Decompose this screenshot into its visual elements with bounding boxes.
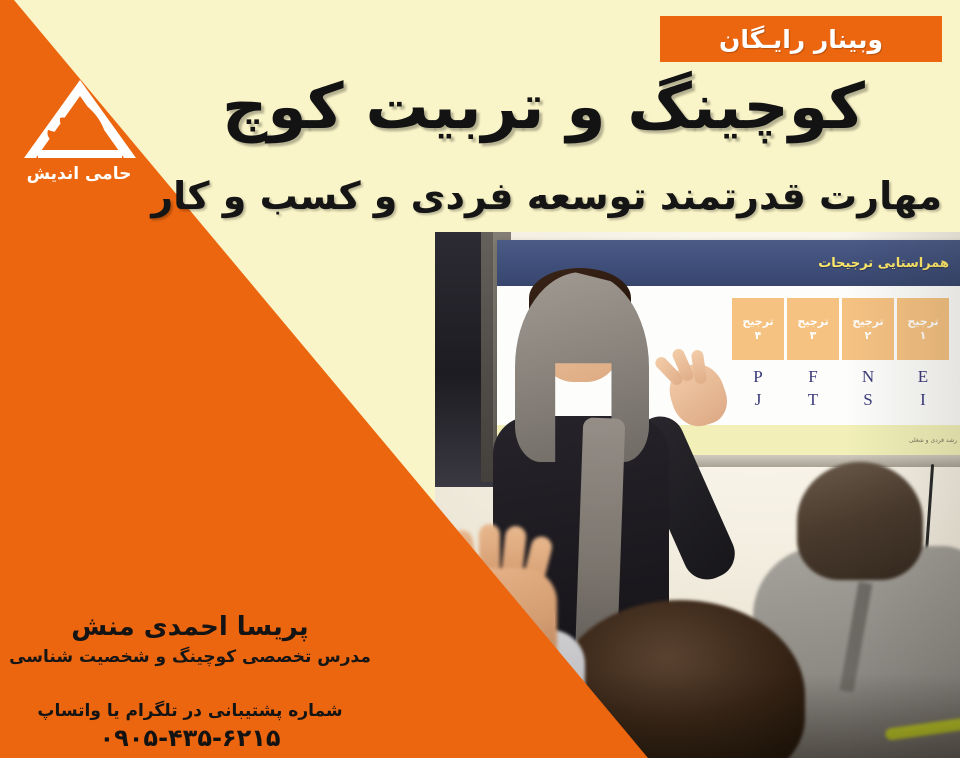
contact-phone-number[interactable]: ۰۹۰۵-۴۳۵-۶۲۱۵ <box>0 724 380 752</box>
free-webinar-badge: وبینار رایـگان <box>660 16 942 62</box>
page-subtitle: مهارت قدرتمند توسعه فردی و کسب و کار <box>182 176 942 218</box>
letter-pair: FT <box>787 366 839 412</box>
slide-footer-note: رشد فردی و شغلی <box>909 437 957 444</box>
page-title: کوچینگ و تربیت کوچ <box>222 74 942 140</box>
table-header-cell: ترجیح۳ <box>787 298 839 360</box>
presenter-name: پریسا احمدی منش <box>0 612 380 643</box>
slide-letters-row: EI NS FT PJ <box>732 366 949 412</box>
brand-logo[interactable]: حامی اندیش <box>14 78 154 198</box>
webinar-poster: همراستایی ترجیحات ترجیح۱ ترجیح۲ ترجیح۳ ت… <box>0 0 960 758</box>
hami-andish-logo-icon <box>20 78 140 162</box>
table-header-cell: ترجیح۲ <box>842 298 894 360</box>
letter-pair: PJ <box>732 366 784 412</box>
presenter-role: مدرس تخصصی کوچینگ و شخصیت شناسی <box>0 647 380 668</box>
brand-logo-text: حامی اندیش <box>14 164 144 184</box>
table-header-cell: ترجیح۴ <box>732 298 784 360</box>
contact-block[interactable]: شماره پشتیبانی در تلگرام یا واتساپ ۰۹۰۵-… <box>0 700 380 752</box>
letter-pair: NS <box>842 366 894 412</box>
contact-label: شماره پشتیبانی در تلگرام یا واتساپ <box>0 700 380 722</box>
slide-title: همراستایی ترجیحات <box>818 256 949 271</box>
audience-man-head <box>797 462 923 580</box>
slide-preference-table: ترجیح۱ ترجیح۲ ترجیح۳ ترجیح۴ <box>732 298 949 360</box>
letter-pair: EI <box>897 366 949 412</box>
presenter-credits: پریسا احمدی منش مدرس تخصصی کوچینگ و شخصی… <box>0 612 380 668</box>
free-webinar-badge-label: وبینار رایـگان <box>719 25 883 54</box>
table-header-cell: ترجیح۱ <box>897 298 949 360</box>
